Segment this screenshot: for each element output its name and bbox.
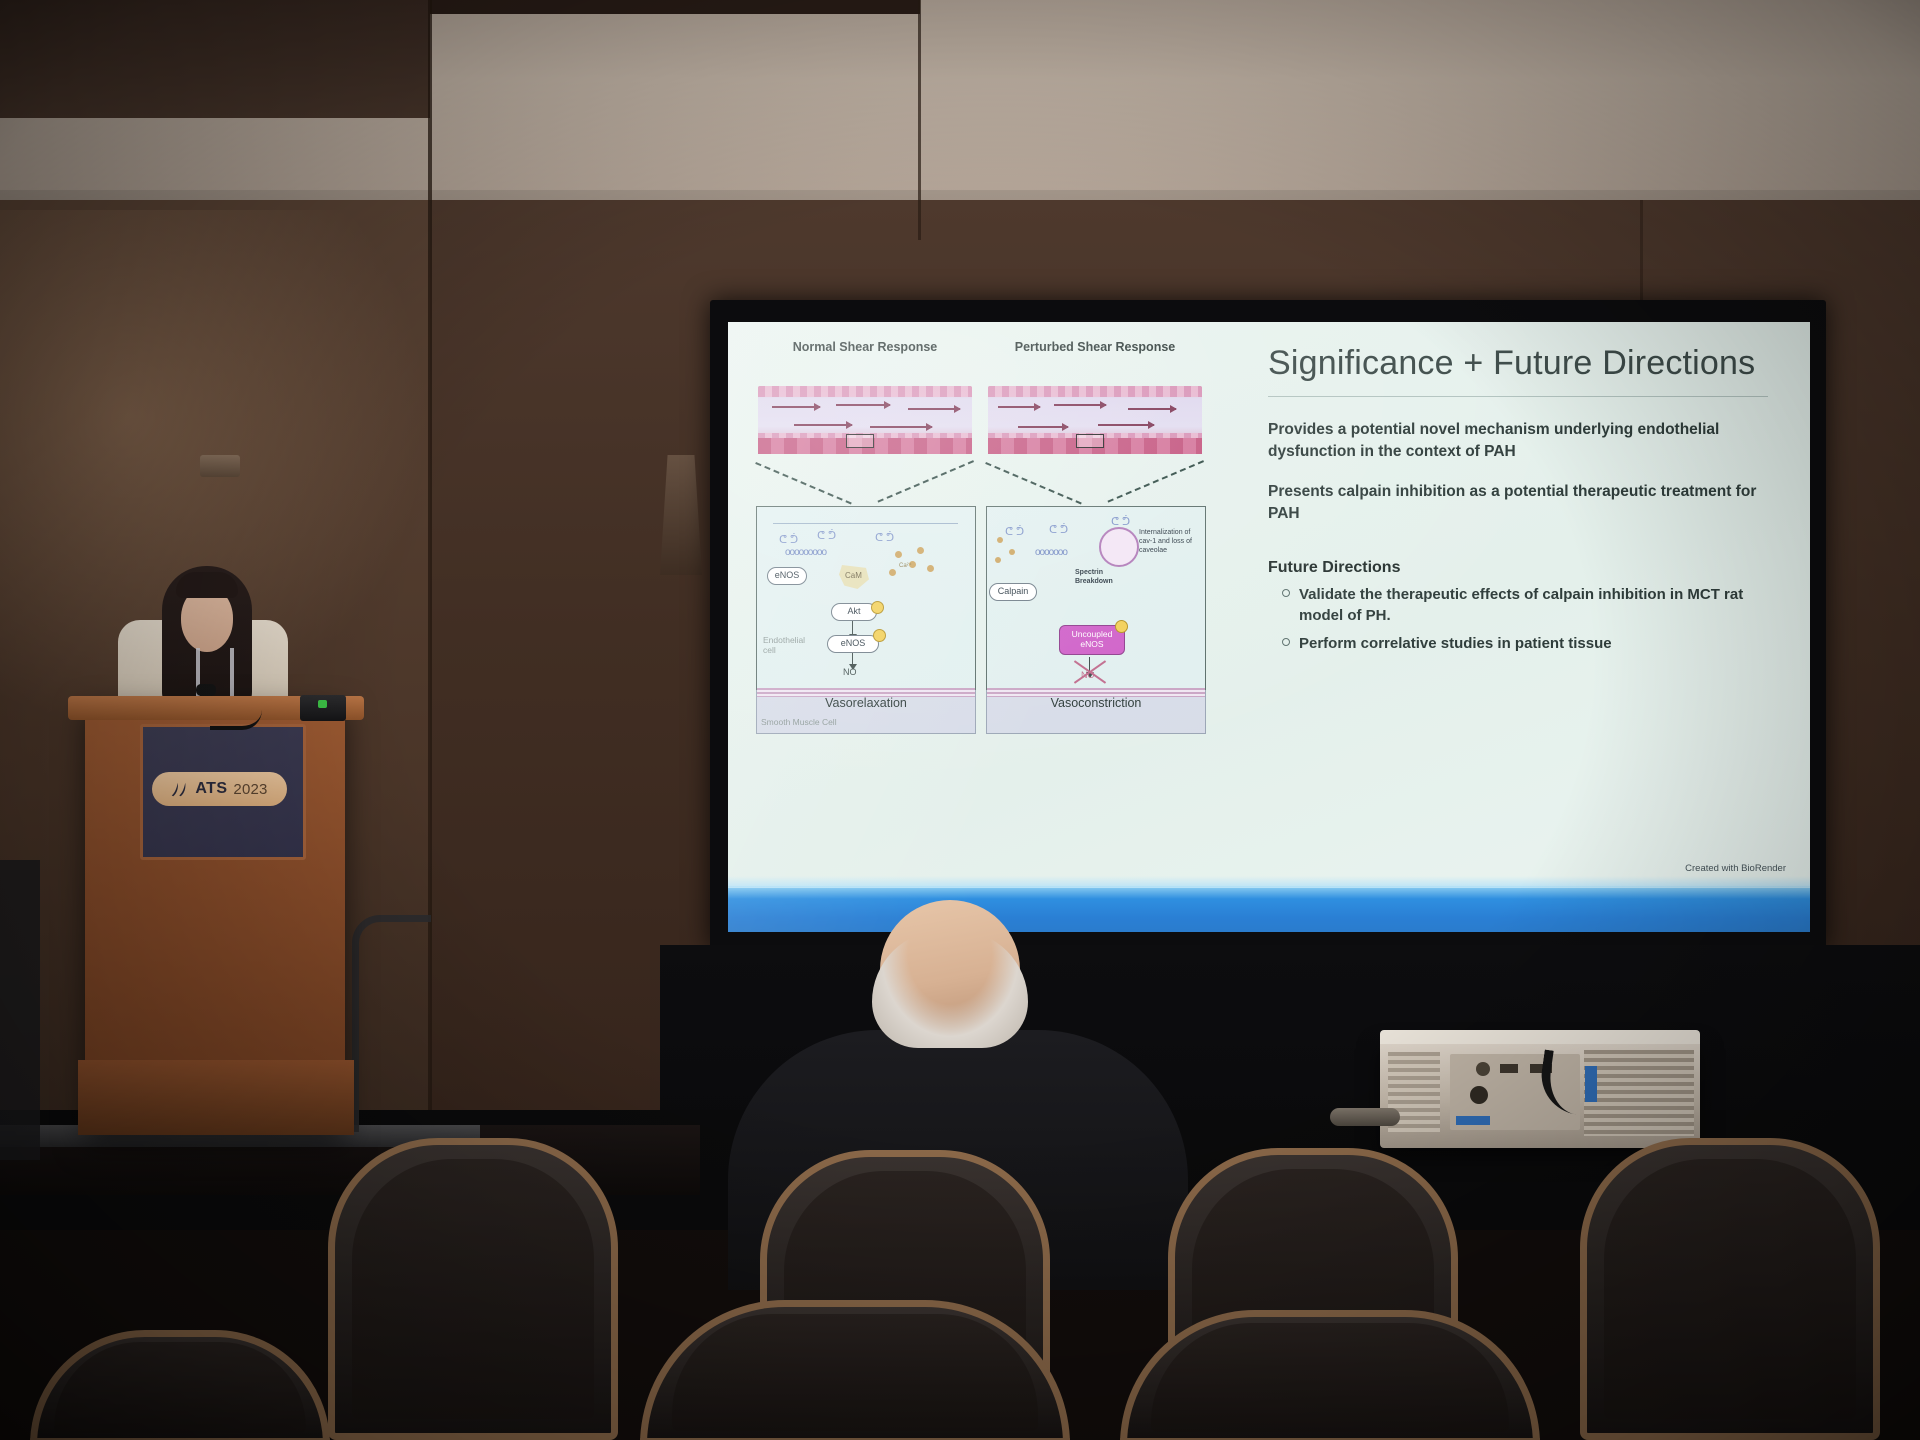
panel-left-title: Normal Shear Response [760, 340, 970, 355]
ceiling-projector-unit [1380, 1040, 1700, 1148]
upper-wall-left-dark [0, 0, 430, 118]
calcium-label: Ca²⁺ [899, 563, 912, 571]
caveola-icon: ᕦ ᕥ [875, 531, 894, 544]
wall-plate [200, 455, 240, 477]
projector-port-icon [1500, 1064, 1518, 1073]
biorender-credit: Created with BioRender [1685, 863, 1786, 874]
slide-paragraph-2: Presents calpain inhibition as a potenti… [1268, 481, 1768, 525]
internalization-label: Internalization of cav-1 and loss of cav… [1139, 529, 1197, 555]
microphone-arm [210, 690, 262, 730]
zoom-connector-line [755, 462, 852, 504]
vessel-wall-top-icon [988, 386, 1202, 397]
calcium-dot-icon [895, 551, 902, 558]
conference-room-photo: Normal Shear Response Perturbed Shear Re… [0, 0, 1920, 1440]
ats-conference-badge: ATS 2023 [152, 772, 287, 806]
phosphate-icon [871, 601, 884, 614]
ats-badge-year: 2023 [233, 781, 267, 798]
wall-seam-vertical-2 [918, 0, 921, 240]
caveola-icon: ᕦ ᕥ [817, 529, 836, 542]
shear-arrow-icon [998, 406, 1040, 408]
zoom-connector-line [877, 460, 974, 502]
spectrin-breakdown-label: Spectrin Breakdown [1075, 569, 1123, 587]
shear-arrow-icon [1128, 408, 1176, 410]
future-bullet-2-text: Perform correlative studies in patient t… [1299, 633, 1612, 654]
panel-right-title: Perturbed Shear Response [990, 340, 1200, 355]
projector-label-icon [1456, 1116, 1490, 1125]
ceiling-seam [430, 0, 920, 14]
future-bullet-1-text: Validate the therapeutic effects of calp… [1299, 584, 1768, 626]
no-label: NO [843, 667, 857, 677]
calcium-dot-icon [995, 557, 1001, 563]
audience-chair [1580, 1138, 1880, 1440]
shear-arrow-icon [836, 404, 890, 406]
device-led-indicator [318, 700, 327, 708]
vasoconstriction-label: Vasoconstriction [987, 696, 1205, 710]
smooth-muscle-band-right: Vasoconstriction [986, 690, 1206, 734]
calcium-dot-icon [917, 547, 924, 554]
cav1-chain-icon: ooooooo [1035, 547, 1067, 558]
audience-chair-front [1120, 1310, 1540, 1440]
caveola-icon: ᕦ ᕥ [1005, 525, 1024, 538]
inhibition-cross-icon [1071, 653, 1109, 691]
vessel-wall-top-icon [758, 386, 972, 397]
zoom-connector-line [1107, 460, 1204, 502]
arrow-down-icon [852, 621, 853, 635]
phosphate-icon [1115, 620, 1128, 633]
enos-pill-top: eNOS [767, 567, 807, 585]
audience-chair [328, 1138, 618, 1440]
vasorelaxation-label: Vasorelaxation [757, 696, 975, 710]
diagram-panel-headings: Normal Shear Response Perturbed Shear Re… [738, 340, 1258, 386]
bullet-dot-icon [1282, 589, 1290, 597]
ats-leaf-logo-icon [171, 782, 189, 797]
membrane-line-icon [773, 523, 958, 525]
projector-remote [1330, 1108, 1400, 1126]
zoom-region-box-left [846, 434, 874, 448]
presenter-bangs [176, 572, 238, 598]
presentation-slide: Normal Shear Response Perturbed Shear Re… [728, 322, 1810, 932]
zoom-region-box-right [1076, 434, 1104, 448]
microphone-head-icon [196, 684, 216, 696]
shear-arrow-icon [794, 424, 852, 426]
enos-pill-bottom: eNOS [827, 635, 879, 653]
audience-chair-front [30, 1330, 330, 1440]
shear-arrow-icon [1098, 424, 1154, 426]
zoom-connector-line [985, 462, 1082, 504]
smooth-muscle-cell-label: Smooth Muscle Cell [761, 717, 837, 727]
calcium-dot-icon [997, 537, 1003, 543]
caveola-icon: ᕦ ᕥ [779, 533, 798, 546]
podium-device [300, 695, 346, 721]
slide-paragraph-1: Provides a potential novel mechanism und… [1268, 419, 1768, 463]
projector-port-icon [1476, 1062, 1490, 1076]
cam-label: CaM [845, 571, 862, 581]
calcium-dot-icon [889, 569, 896, 576]
slide-text-column: Significance + Future Directions Provide… [1268, 344, 1768, 661]
future-bullet-2: Perform correlative studies in patient t… [1282, 633, 1768, 654]
title-divider [1268, 396, 1768, 397]
slide-bottom-band [728, 886, 1810, 932]
shear-arrow-icon [870, 426, 932, 428]
caveolae-vesicle-icon [1099, 527, 1139, 567]
calcium-dot-icon [1009, 549, 1015, 555]
projector-top [1380, 1030, 1700, 1044]
cav1-chain-icon: ooooooooo [785, 547, 826, 558]
shear-arrow-icon [1018, 426, 1068, 428]
caveola-icon: ᕦ ᕥ [1049, 523, 1068, 536]
stage-handrail [352, 915, 431, 1132]
arrow-down-icon [852, 653, 853, 665]
slide-title: Significance + Future Directions [1268, 344, 1768, 383]
shear-arrow-icon [772, 406, 820, 408]
future-bullet-1: Validate the therapeutic effects of calp… [1282, 584, 1768, 626]
future-directions-heading: Future Directions [1268, 559, 1768, 577]
endothelial-cell-panel-left: ᕦ ᕥ ᕦ ᕥ ᕦ ᕥ ooooooooo eNOS CaM Ca²⁺ Akt [756, 506, 976, 694]
endothelial-cell-panel-right: ᕦ ᕥ ᕦ ᕥ ᕦ ᕥ ooooooo Calpain Spectrin Bre… [986, 506, 1206, 694]
bullet-dot-icon [1282, 638, 1290, 646]
calcium-dot-icon [927, 565, 934, 572]
smooth-muscle-band-left: Vasorelaxation Smooth Muscle Cell [756, 690, 976, 734]
endothelial-cell-label: Endothelial cell [763, 635, 813, 655]
phosphate-icon [873, 629, 886, 642]
ats-badge-logo-text: ATS [195, 780, 227, 798]
side-rail [0, 860, 40, 1160]
calpain-pill: Calpain [989, 583, 1037, 601]
shear-arrow-icon [1054, 404, 1106, 406]
podium-base [78, 1060, 354, 1135]
projector-port-icon [1470, 1086, 1488, 1104]
caveola-icon: ᕦ ᕥ [1111, 515, 1130, 528]
shear-arrow-icon [908, 408, 960, 410]
projection-screen: Normal Shear Response Perturbed Shear Re… [728, 322, 1810, 932]
